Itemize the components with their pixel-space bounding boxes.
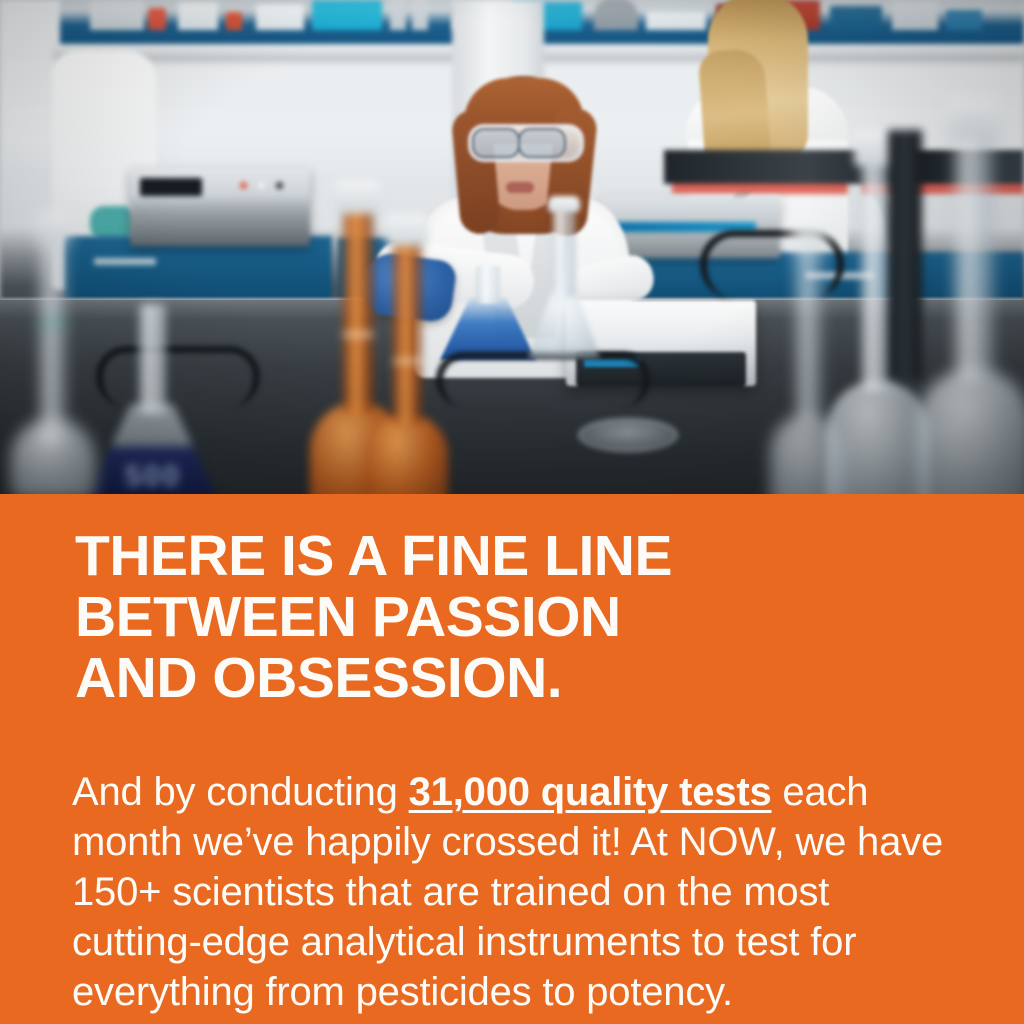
stat-highlight-quality-tests: 31,000 quality tests xyxy=(409,770,772,814)
lab-instrument-left xyxy=(130,168,310,246)
flask-neck xyxy=(552,204,576,296)
reagent-bottle xyxy=(594,0,638,30)
clear-volumetric-flask xyxy=(770,214,846,494)
reagent-bottle xyxy=(312,0,382,30)
flask-neck xyxy=(476,266,500,304)
glass-stopper xyxy=(386,214,428,246)
flask-neck xyxy=(40,236,66,446)
flask-neck xyxy=(796,242,822,422)
watch-glass xyxy=(578,418,678,452)
reagent-bottle xyxy=(178,2,218,30)
flask-neck xyxy=(392,236,422,424)
held-flask-blue-liquid xyxy=(440,268,536,360)
glass-stopper xyxy=(790,218,828,250)
orange-message-panel: THERE IS A FINE LINEBETWEEN PASSIONAND O… xyxy=(0,494,1024,1024)
cabinet-handle xyxy=(94,258,156,265)
reagent-bottle xyxy=(892,0,938,30)
headline-line-1: THERE IS A FINE LINE xyxy=(75,524,672,588)
flask-bulb xyxy=(366,414,448,494)
status-led xyxy=(240,182,247,189)
glass-stopper xyxy=(336,180,380,214)
page-title: THERE IS A FINE LINEBETWEEN PASSIONAND O… xyxy=(75,526,955,709)
glass-stopper xyxy=(548,196,580,212)
bench-cable xyxy=(436,352,650,407)
status-led xyxy=(258,182,265,189)
body-paragraph: And by conducting 31,000 quality tests e… xyxy=(72,767,948,1017)
goggle-lens-left xyxy=(472,128,520,158)
flask-neck xyxy=(954,128,994,380)
flask-bulb xyxy=(770,414,846,494)
goggle-lens-right xyxy=(518,128,566,158)
reagent-bottle xyxy=(226,12,242,30)
reagent-bottle xyxy=(946,10,982,30)
dark-column-fixture xyxy=(888,130,922,380)
flask-bulb xyxy=(916,368,1024,494)
status-led xyxy=(276,182,283,189)
headline-line-3: AND OBSESSION. xyxy=(75,646,562,710)
flask-bulb xyxy=(528,288,600,358)
erlenmeyer-flask-500ml: 500 xyxy=(86,300,218,494)
flask-volume-label: 500 xyxy=(114,460,192,494)
flask-body xyxy=(440,296,536,360)
glass-stopper xyxy=(948,98,1000,140)
reagent-bottle xyxy=(412,0,428,30)
mouth xyxy=(506,182,534,193)
reagent-bottle xyxy=(390,0,406,30)
lab-photograph: 500 xyxy=(0,0,1024,494)
clear-volumetric-flask xyxy=(916,94,1024,494)
blue-cabinet-left xyxy=(64,236,332,306)
reagent-bottle xyxy=(148,8,166,30)
reagent-bottle xyxy=(256,4,304,30)
graduation-mark xyxy=(38,320,68,326)
glass-stopper xyxy=(36,212,70,242)
social-media-poster: 500 xyxy=(0,0,1024,1024)
conical-flask-mid xyxy=(528,206,600,358)
flask-bulb xyxy=(10,418,96,494)
reagent-bottle xyxy=(90,0,144,30)
clear-volumetric-flask xyxy=(10,200,96,494)
headline-line-2: BETWEEN PASSION xyxy=(75,585,621,649)
instrument-display xyxy=(140,178,202,196)
flask-neck xyxy=(138,304,166,414)
graduation-mark xyxy=(392,358,422,364)
body-segment-lead: And by conducting xyxy=(72,770,409,814)
amber-volumetric-flask xyxy=(366,214,448,494)
